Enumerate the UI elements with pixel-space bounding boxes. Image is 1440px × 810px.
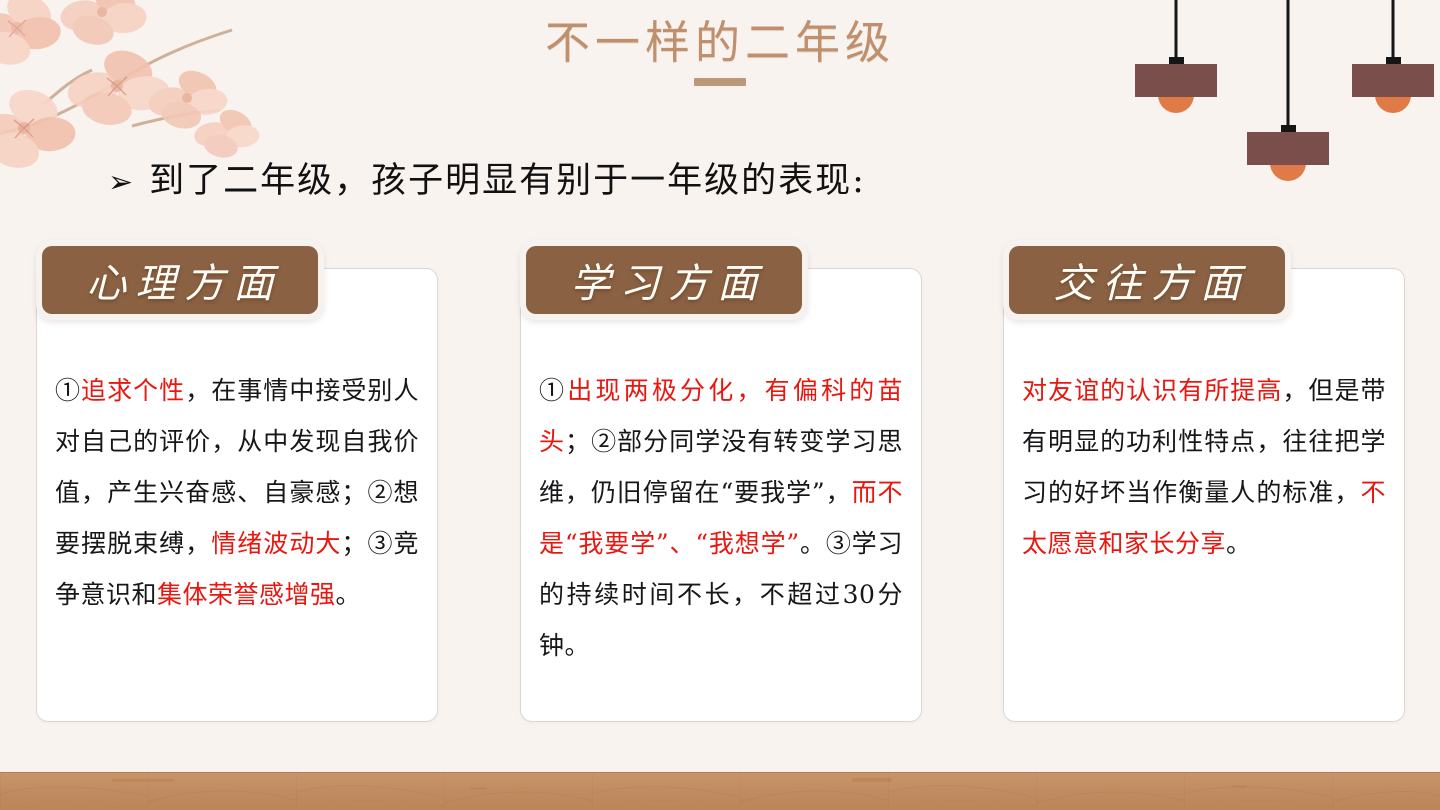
card-psychology-header-label: 心理方面 bbox=[78, 251, 283, 309]
card-social-header: 交往方面 bbox=[1003, 240, 1291, 320]
text-segment: 对友谊的认识有所提高 bbox=[1022, 376, 1282, 405]
card-study-body: ①出现两极分化，有偏科的苗头；②部分同学没有转变学习思维，仍旧停留在“要我学”，… bbox=[521, 365, 921, 671]
slide-canvas: 不一样的二年级 ➢到了二年级，孩子明显有别于一年级的表现: ①追求个性，在事情中… bbox=[0, 0, 1440, 810]
card-psychology-body: ①追求个性，在事情中接受别人对自己的评价，从中发现自我价值，产生兴奋感、自豪感；… bbox=[37, 365, 437, 620]
text-segment: 追求个性 bbox=[81, 376, 185, 405]
cards-container: ①追求个性，在事情中接受别人对自己的评价，从中发现自我价值，产生兴奋感、自豪感；… bbox=[0, 0, 1440, 810]
card-study-header-label: 学习方面 bbox=[562, 251, 767, 309]
text-segment: 情绪波动大 bbox=[211, 529, 341, 558]
text-segment: 。 bbox=[1226, 529, 1252, 558]
card-study: ①出现两极分化，有偏科的苗头；②部分同学没有转变学习思维，仍旧停留在“要我学”，… bbox=[520, 268, 922, 722]
card-social-header-label: 交往方面 bbox=[1045, 251, 1250, 309]
card-psychology: ①追求个性，在事情中接受别人对自己的评价，从中发现自我价值，产生兴奋感、自豪感；… bbox=[36, 268, 438, 722]
card-social: 对友谊的认识有所提高，但是带有明显的功利性特点，往往把学习的好坏当作衡量人的标准… bbox=[1003, 268, 1405, 722]
wooden-floor-strip bbox=[0, 772, 1440, 810]
text-segment: 集体荣誉感增强 bbox=[157, 580, 336, 609]
text-segment: ；②部分同学没有转变学习思维，仍旧停留在“要我学”， bbox=[539, 427, 903, 507]
text-segment: 。 bbox=[336, 580, 362, 609]
wood-grain-icon bbox=[0, 773, 1440, 810]
text-segment: ① bbox=[55, 376, 81, 405]
card-psychology-header: 心理方面 bbox=[36, 240, 324, 320]
card-social-body: 对友谊的认识有所提高，但是带有明显的功利性特点，往往把学习的好坏当作衡量人的标准… bbox=[1004, 365, 1404, 569]
text-segment: ① bbox=[539, 376, 567, 405]
card-study-header: 学习方面 bbox=[520, 240, 808, 320]
